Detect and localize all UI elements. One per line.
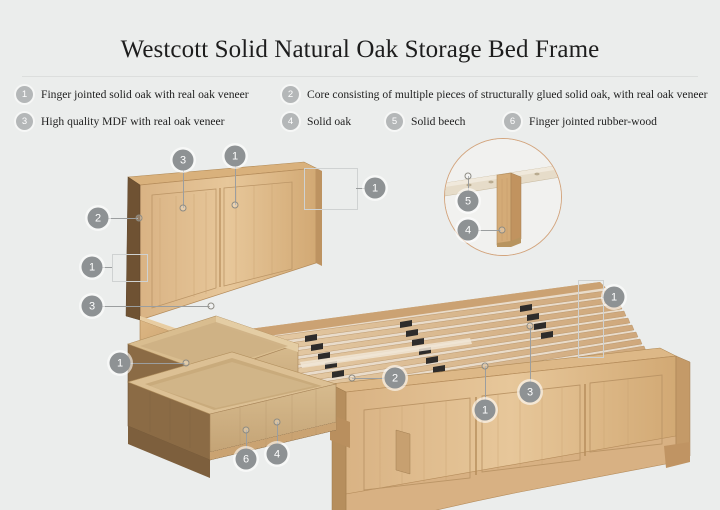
legend-badge-1: 1 (16, 86, 33, 103)
legend-item-4: 4 Solid oak (282, 113, 351, 130)
callout-footboard-post-oak[interactable]: 1 (604, 287, 625, 308)
bracket-side-rail (112, 254, 148, 282)
legend-item-1: 1 Finger jointed solid oak with real oak… (16, 86, 249, 103)
diagram-page: Westcott Solid Natural Oak Storage Bed F… (0, 0, 720, 510)
legend-label-1: Finger jointed solid oak with real oak v… (41, 89, 249, 101)
anchor-drawer-base-oak (274, 419, 281, 426)
leader-drawer-side-oak (130, 363, 185, 364)
anchor-drawer-box-rubberwood (243, 427, 250, 434)
anchor-footboard-panel-mdf (527, 323, 534, 330)
callout-headboard-post-core[interactable]: 2 (88, 208, 109, 229)
bed-artwork (0, 130, 720, 510)
legend-badge-3: 3 (16, 113, 33, 130)
legend-label-2: Core consisting of multiple pieces of st… (307, 89, 708, 101)
callout-drawer-box-rubberwood[interactable]: 6 (236, 449, 257, 470)
callout-drawer-side-oak[interactable]: 1 (110, 353, 131, 374)
leader-headboard-stile-oak (235, 166, 236, 205)
callout-drawer-front-mdf[interactable]: 3 (82, 296, 103, 317)
legend-item-3: 3 High quality MDF with real oak veneer (16, 113, 225, 130)
callout-headboard-top-rail-oak[interactable]: 1 (365, 178, 386, 199)
leader-drawer-front-mdf (102, 306, 210, 307)
leader-headboard-panel-mdf (183, 170, 184, 208)
anchor-footboard-rail-oak (482, 363, 489, 370)
callout-footboard-rail-oak[interactable]: 1 (475, 400, 496, 421)
bracket-footboard-post (578, 280, 604, 358)
callout-support-bar-beech[interactable]: 5 (458, 191, 479, 212)
anchor-headboard-post-core (136, 215, 143, 222)
bed-frame-illustration: 3 1 1 2 1 3 1 6 4 2 (0, 130, 720, 510)
legend: 1 Finger jointed solid oak with real oak… (14, 82, 714, 132)
callout-headboard-stile-oak[interactable]: 1 (225, 146, 246, 167)
anchor-drawer-side-oak (183, 360, 190, 367)
anchor-headboard-stile-oak (232, 202, 239, 209)
legend-label-3: High quality MDF with real oak veneer (41, 116, 225, 128)
callout-support-leg-oak[interactable]: 4 (458, 220, 479, 241)
anchor-footboard-panel-core (349, 375, 356, 382)
anchor-support-leg-oak (499, 227, 506, 234)
legend-item-6: 6 Finger jointed rubber-wood (504, 113, 657, 130)
leader-headboard-post-core (108, 218, 138, 219)
legend-badge-6: 6 (504, 113, 521, 130)
callout-footboard-panel-core[interactable]: 2 (385, 368, 406, 389)
callout-footboard-panel-mdf[interactable]: 3 (520, 382, 541, 403)
callout-headboard-panel-mdf[interactable]: 3 (173, 150, 194, 171)
legend-item-5: 5 Solid beech (386, 113, 465, 130)
legend-label-5: Solid beech (411, 116, 465, 128)
header-divider (22, 76, 698, 77)
legend-label-4: Solid oak (307, 116, 351, 128)
page-title: Westcott Solid Natural Oak Storage Bed F… (0, 36, 720, 64)
legend-badge-5: 5 (386, 113, 403, 130)
legend-item-2: 2 Core consisting of multiple pieces of … (282, 86, 708, 103)
anchor-drawer-front-mdf (208, 303, 215, 310)
callout-drawer-base-oak[interactable]: 4 (267, 444, 288, 465)
legend-label-6: Finger jointed rubber-wood (529, 116, 657, 128)
bracket-headboard-top-rail (304, 168, 358, 210)
legend-badge-2: 2 (282, 86, 299, 103)
anchor-headboard-panel-mdf (180, 205, 187, 212)
callout-side-rail-oak[interactable]: 1 (82, 257, 103, 278)
anchor-support-bar-beech (465, 173, 472, 180)
legend-badge-4: 4 (282, 113, 299, 130)
leader-footboard-panel-core (352, 378, 384, 379)
